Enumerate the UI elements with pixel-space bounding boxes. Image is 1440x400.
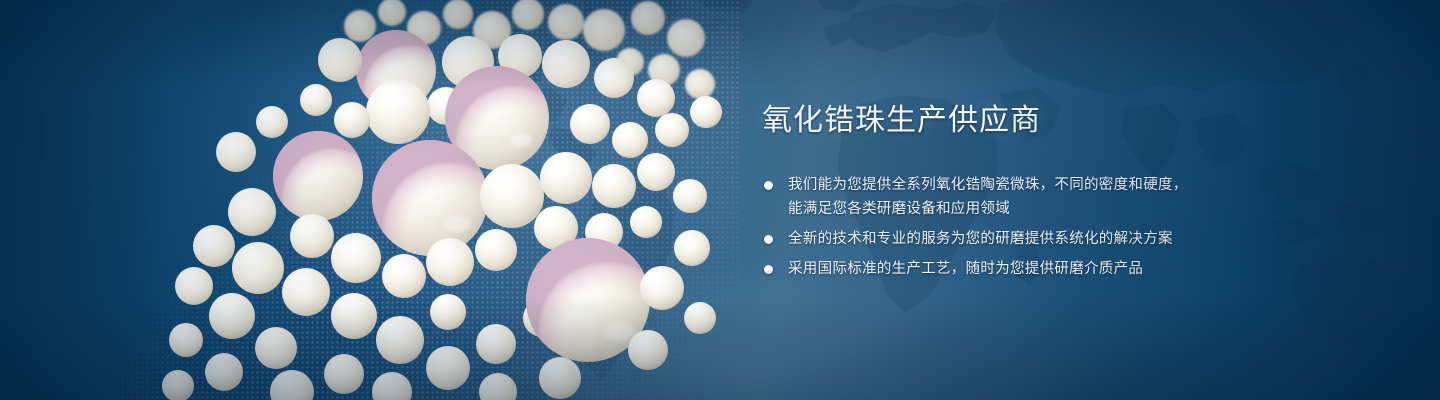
bullet-text-line2: 能满足您各类研磨设备和应用领域 [788, 197, 1362, 221]
bullet-text-line1: 全新的技术和专业的服务为您的研磨提供系统化的解决方案 [788, 231, 1173, 247]
bullet-dot-icon [764, 265, 773, 274]
list-item: 采用国际标准的生产工艺，随时为您提供研磨介质产品 [762, 257, 1362, 281]
bullet-dot-icon [764, 181, 773, 190]
hero-banner: 氧化锆珠生产供应商 我们能为您提供全系列氧化锆陶瓷微珠，不同的密度和硬度， 能满… [0, 0, 1440, 400]
page-title: 氧化锆珠生产供应商 [762, 104, 1362, 139]
bullet-text-line1: 我们能为您提供全系列氧化锆陶瓷微珠，不同的密度和硬度， [788, 177, 1188, 193]
list-item: 全新的技术和专业的服务为您的研磨提供系统化的解决方案 [762, 227, 1362, 251]
banner-copy: 氧化锆珠生产供应商 我们能为您提供全系列氧化锆陶瓷微珠，不同的密度和硬度， 能满… [762, 104, 1362, 281]
list-item: 我们能为您提供全系列氧化锆陶瓷微珠，不同的密度和硬度， 能满足您各类研磨设备和应… [762, 173, 1362, 221]
feature-list: 我们能为您提供全系列氧化锆陶瓷微珠，不同的密度和硬度， 能满足您各类研磨设备和应… [762, 173, 1362, 281]
bullet-text-line1: 采用国际标准的生产工艺，随时为您提供研磨介质产品 [788, 261, 1143, 277]
bullet-dot-icon [764, 235, 773, 244]
